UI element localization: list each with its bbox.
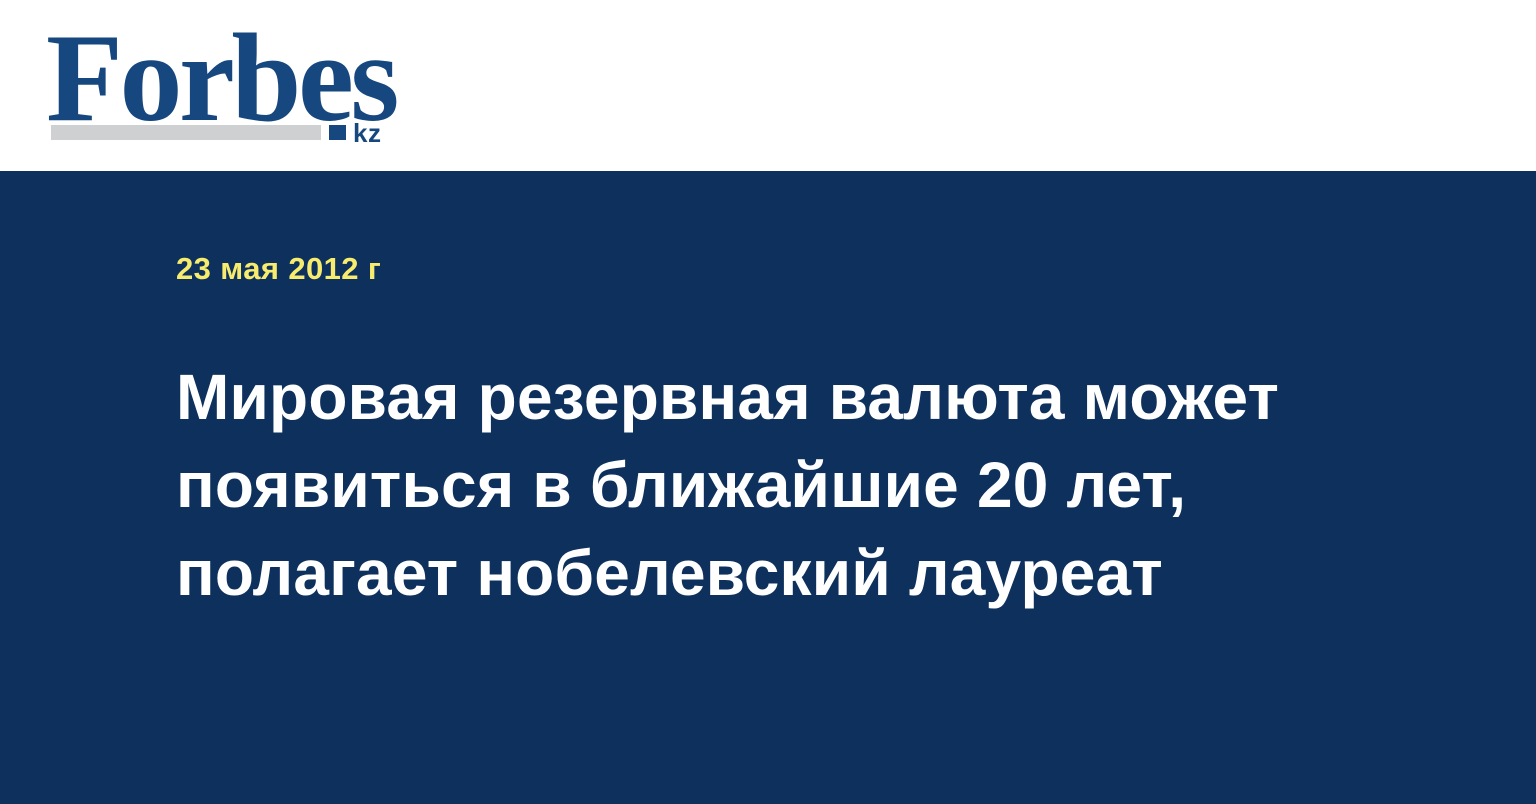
- logo-square-icon: [329, 125, 346, 140]
- site-header: Forbes kz: [0, 0, 1536, 171]
- logo-rule-icon: [51, 125, 321, 140]
- article-page: Forbes kz 23 мая 2012 г Мировая резервна…: [0, 0, 1536, 804]
- forbes-kz-logo[interactable]: Forbes kz: [46, 16, 416, 156]
- article-hero: 23 мая 2012 г Мировая резервная валюта м…: [0, 171, 1536, 804]
- logo-kz-suffix: kz: [353, 120, 381, 146]
- article-title: Мировая резервная валюта может появиться…: [176, 353, 1376, 617]
- article-date: 23 мая 2012 г: [176, 251, 381, 287]
- forbes-wordmark: Forbes: [46, 16, 396, 142]
